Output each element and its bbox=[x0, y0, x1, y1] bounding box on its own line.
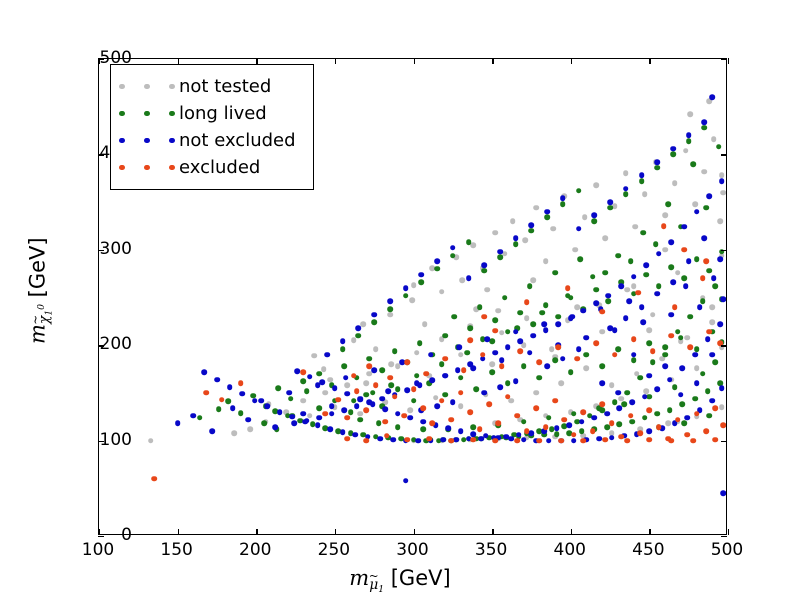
data-point bbox=[681, 247, 687, 253]
data-point bbox=[670, 152, 676, 158]
data-point bbox=[672, 304, 678, 310]
data-point bbox=[684, 335, 690, 341]
data-point bbox=[700, 276, 706, 282]
data-point bbox=[411, 282, 417, 288]
data-point bbox=[717, 257, 723, 263]
data-point bbox=[603, 270, 609, 276]
data-point bbox=[492, 328, 498, 334]
data-point bbox=[650, 312, 656, 318]
data-point bbox=[291, 421, 297, 427]
data-point bbox=[354, 388, 360, 394]
data-point bbox=[577, 257, 583, 263]
data-point bbox=[191, 413, 197, 419]
data-point bbox=[703, 205, 709, 211]
data-point bbox=[496, 308, 502, 314]
data-point bbox=[455, 367, 461, 373]
data-point bbox=[692, 396, 698, 402]
data-point bbox=[691, 438, 697, 444]
data-point bbox=[559, 381, 565, 387]
data-point bbox=[376, 421, 382, 427]
data-point bbox=[505, 329, 511, 335]
data-point bbox=[389, 382, 395, 388]
data-point bbox=[662, 344, 668, 350]
data-point bbox=[544, 209, 550, 215]
data-point bbox=[681, 224, 687, 230]
data-point bbox=[555, 321, 561, 327]
data-point bbox=[713, 360, 719, 366]
data-point bbox=[434, 258, 440, 264]
legend-item-long-lived[interactable]: long lived bbox=[119, 100, 303, 127]
x-tick-label: 500 bbox=[711, 540, 743, 560]
data-point bbox=[623, 192, 629, 198]
legend-item-not-excluded[interactable]: not excluded bbox=[119, 127, 303, 154]
data-point bbox=[340, 346, 346, 352]
data-point bbox=[414, 373, 420, 379]
data-point bbox=[702, 119, 708, 125]
data-point bbox=[713, 405, 719, 411]
data-point bbox=[527, 283, 533, 289]
data-point bbox=[390, 437, 396, 443]
data-point bbox=[709, 398, 715, 404]
data-point bbox=[719, 404, 725, 410]
data-point bbox=[555, 344, 561, 350]
data-point bbox=[345, 382, 351, 388]
data-point bbox=[551, 226, 557, 232]
data-point bbox=[408, 415, 414, 421]
data-point bbox=[686, 138, 692, 144]
data-point bbox=[593, 340, 599, 346]
data-point bbox=[315, 423, 321, 429]
data-point bbox=[702, 125, 708, 131]
legend-item-excluded[interactable]: excluded bbox=[119, 154, 303, 181]
data-point bbox=[417, 382, 423, 388]
data-point bbox=[524, 316, 530, 322]
data-point bbox=[426, 436, 432, 442]
data-point bbox=[209, 428, 215, 434]
data-point bbox=[445, 425, 451, 431]
data-point bbox=[579, 419, 585, 425]
x-axis-tick bbox=[492, 529, 493, 535]
data-point bbox=[579, 428, 585, 434]
data-point bbox=[559, 438, 565, 444]
data-point bbox=[450, 400, 456, 406]
data-point bbox=[544, 363, 550, 369]
data-point bbox=[483, 433, 489, 439]
data-point bbox=[678, 392, 684, 398]
data-point bbox=[371, 320, 377, 326]
data-point bbox=[247, 426, 253, 432]
data-point bbox=[617, 405, 623, 411]
data-point bbox=[481, 268, 487, 274]
data-point bbox=[675, 270, 681, 276]
data-point bbox=[629, 400, 635, 406]
data-point bbox=[609, 435, 615, 441]
data-point bbox=[571, 438, 577, 444]
data-point bbox=[275, 385, 281, 391]
data-point bbox=[719, 385, 725, 391]
data-point bbox=[636, 290, 642, 296]
x-axis-tick bbox=[335, 58, 336, 64]
data-point bbox=[667, 377, 673, 383]
data-point bbox=[508, 436, 514, 442]
data-point bbox=[409, 298, 415, 304]
data-point bbox=[582, 215, 588, 221]
data-point bbox=[422, 321, 428, 327]
data-point bbox=[214, 377, 220, 383]
data-point bbox=[706, 268, 712, 274]
data-point bbox=[623, 171, 629, 177]
data-point bbox=[364, 392, 370, 398]
data-point bbox=[246, 417, 252, 423]
data-point bbox=[499, 330, 505, 336]
data-point bbox=[459, 278, 465, 284]
data-point bbox=[225, 399, 231, 405]
data-point bbox=[417, 340, 423, 346]
data-point bbox=[546, 438, 552, 444]
data-point bbox=[705, 388, 711, 394]
data-point bbox=[650, 360, 656, 366]
data-point bbox=[353, 432, 359, 438]
data-point bbox=[403, 293, 409, 299]
data-point bbox=[639, 304, 645, 310]
data-point bbox=[439, 361, 445, 367]
x-axis-unit: [GeV] bbox=[391, 566, 451, 590]
data-point bbox=[499, 363, 505, 369]
data-point bbox=[592, 415, 598, 421]
data-point bbox=[706, 194, 712, 200]
data-point bbox=[477, 426, 483, 432]
x-axis-tick bbox=[649, 529, 650, 535]
data-point bbox=[513, 241, 519, 247]
data-point bbox=[661, 223, 667, 229]
data-point bbox=[637, 375, 643, 381]
data-point bbox=[647, 407, 653, 413]
data-point bbox=[592, 218, 598, 224]
data-point bbox=[319, 380, 325, 386]
data-point bbox=[615, 346, 621, 352]
data-point bbox=[560, 195, 566, 201]
data-point bbox=[560, 201, 566, 207]
data-point bbox=[599, 329, 605, 335]
data-point bbox=[555, 314, 561, 320]
data-point bbox=[568, 369, 574, 375]
data-point bbox=[599, 381, 605, 387]
data-point bbox=[716, 144, 722, 150]
data-point bbox=[533, 405, 539, 411]
data-point bbox=[474, 386, 480, 392]
data-point bbox=[430, 421, 436, 427]
data-point bbox=[607, 199, 613, 205]
data-point bbox=[239, 391, 245, 397]
data-point bbox=[670, 279, 676, 285]
data-point bbox=[448, 417, 454, 423]
data-point bbox=[467, 409, 473, 415]
data-point bbox=[518, 310, 524, 316]
data-point bbox=[227, 384, 233, 390]
data-point bbox=[694, 257, 700, 263]
data-point bbox=[709, 304, 715, 310]
data-point bbox=[203, 390, 209, 396]
data-point bbox=[537, 360, 543, 366]
data-point bbox=[623, 316, 629, 322]
data-point bbox=[596, 436, 602, 442]
data-point bbox=[272, 424, 278, 430]
data-point bbox=[356, 333, 362, 339]
figure: 1001502002503003504004505000100200300400… bbox=[0, 0, 800, 600]
data-point bbox=[639, 178, 645, 184]
data-point bbox=[524, 428, 530, 434]
data-point bbox=[521, 363, 527, 369]
data-point bbox=[518, 339, 524, 345]
data-point bbox=[626, 299, 632, 305]
data-point bbox=[702, 169, 708, 175]
data-point bbox=[584, 352, 590, 358]
data-point bbox=[686, 258, 692, 264]
data-point bbox=[592, 213, 598, 219]
data-point bbox=[351, 373, 357, 379]
data-point bbox=[481, 314, 487, 320]
data-point bbox=[450, 245, 456, 251]
data-point bbox=[264, 403, 270, 409]
data-point bbox=[571, 411, 577, 417]
data-point bbox=[631, 274, 637, 280]
data-point bbox=[175, 421, 181, 427]
data-point bbox=[529, 222, 535, 228]
data-point bbox=[323, 411, 329, 417]
data-point bbox=[364, 381, 370, 387]
data-point bbox=[329, 403, 335, 409]
data-point bbox=[411, 386, 417, 392]
data-point bbox=[370, 402, 376, 408]
data-point bbox=[640, 320, 646, 326]
data-point bbox=[713, 283, 719, 289]
data-point bbox=[637, 430, 643, 436]
data-point bbox=[238, 381, 244, 387]
data-point bbox=[565, 285, 571, 291]
data-point bbox=[286, 390, 292, 396]
data-point bbox=[720, 423, 726, 429]
x-axis-tick bbox=[728, 58, 729, 64]
data-point bbox=[720, 297, 726, 303]
data-point bbox=[706, 329, 712, 335]
data-point bbox=[581, 409, 587, 415]
data-point bbox=[607, 325, 613, 331]
y-axis-tick bbox=[721, 59, 727, 60]
data-point bbox=[357, 417, 363, 423]
data-point bbox=[628, 258, 634, 264]
data-point bbox=[606, 293, 612, 299]
data-point bbox=[670, 146, 676, 152]
data-point bbox=[502, 295, 508, 301]
data-point bbox=[481, 390, 487, 396]
data-point bbox=[667, 407, 673, 413]
data-point bbox=[678, 335, 684, 341]
data-point bbox=[552, 358, 558, 364]
data-point bbox=[452, 314, 458, 320]
data-point bbox=[530, 278, 536, 284]
data-point bbox=[703, 258, 709, 264]
data-point bbox=[379, 396, 385, 402]
data-point bbox=[618, 434, 624, 440]
data-point bbox=[656, 251, 662, 257]
data-point bbox=[669, 264, 675, 270]
data-point bbox=[364, 438, 370, 444]
data-point bbox=[304, 388, 310, 394]
data-point bbox=[403, 478, 409, 484]
data-point bbox=[492, 350, 498, 356]
data-point bbox=[711, 136, 717, 142]
data-point bbox=[458, 352, 464, 358]
data-point bbox=[669, 333, 675, 339]
data-point bbox=[654, 411, 660, 417]
x-tick-label: 350 bbox=[475, 540, 507, 560]
data-point bbox=[456, 344, 462, 350]
data-point bbox=[571, 432, 577, 438]
data-point bbox=[647, 428, 653, 434]
data-point bbox=[301, 411, 307, 417]
data-point bbox=[301, 369, 307, 375]
data-point bbox=[467, 361, 473, 367]
legend-marker-swatch bbox=[119, 165, 179, 171]
x-axis-tick bbox=[571, 529, 572, 535]
data-point bbox=[669, 438, 675, 444]
data-point bbox=[543, 258, 549, 264]
data-point bbox=[373, 346, 379, 352]
data-point bbox=[382, 419, 388, 425]
x-axis-tick bbox=[728, 529, 729, 535]
data-point bbox=[467, 338, 473, 344]
data-point bbox=[683, 148, 689, 154]
data-point bbox=[420, 419, 426, 425]
data-point bbox=[662, 363, 668, 369]
data-point bbox=[423, 371, 429, 377]
data-point bbox=[442, 392, 448, 398]
data-point bbox=[524, 299, 530, 305]
data-point bbox=[480, 352, 486, 358]
data-point bbox=[367, 356, 373, 362]
data-point bbox=[642, 394, 648, 400]
data-point bbox=[543, 302, 549, 308]
data-point bbox=[505, 344, 511, 350]
data-point bbox=[514, 413, 520, 419]
data-point bbox=[632, 224, 638, 230]
data-point bbox=[609, 421, 615, 427]
data-point bbox=[533, 390, 539, 396]
data-point bbox=[672, 384, 678, 390]
data-point bbox=[639, 173, 645, 179]
data-point bbox=[720, 490, 726, 496]
y-tick-label: 300 bbox=[90, 239, 132, 259]
data-point bbox=[615, 253, 621, 259]
data-point bbox=[609, 382, 615, 388]
data-point bbox=[348, 409, 354, 415]
data-point bbox=[703, 428, 709, 434]
data-point bbox=[514, 438, 520, 444]
data-point bbox=[497, 384, 503, 390]
data-point bbox=[481, 262, 487, 268]
legend-item-not-tested[interactable]: not tested bbox=[119, 73, 303, 100]
data-point bbox=[301, 398, 307, 404]
data-point bbox=[576, 346, 582, 352]
data-point bbox=[485, 337, 491, 343]
data-point bbox=[584, 335, 590, 341]
data-point bbox=[700, 299, 706, 305]
x-axis-tick bbox=[256, 529, 257, 535]
legend: not testedlong livednot excludedexcluded bbox=[110, 64, 314, 190]
data-point bbox=[709, 320, 715, 326]
data-point bbox=[216, 406, 222, 412]
data-point bbox=[612, 352, 618, 358]
data-point bbox=[434, 266, 440, 272]
data-point bbox=[654, 159, 660, 165]
data-point bbox=[332, 385, 338, 391]
data-point bbox=[662, 247, 668, 253]
data-point bbox=[543, 327, 549, 333]
data-point bbox=[387, 306, 393, 312]
x-axis-tick bbox=[335, 529, 336, 535]
data-point bbox=[258, 398, 264, 404]
data-point bbox=[323, 390, 329, 396]
data-point bbox=[357, 397, 363, 403]
data-point bbox=[370, 390, 376, 396]
data-point bbox=[492, 318, 498, 324]
data-point bbox=[617, 422, 623, 428]
data-point bbox=[466, 239, 472, 245]
x-axis-tick bbox=[492, 58, 493, 64]
data-point bbox=[654, 291, 660, 297]
data-point bbox=[441, 437, 447, 443]
data-point bbox=[675, 417, 681, 423]
data-point bbox=[581, 438, 587, 444]
data-point bbox=[631, 283, 637, 289]
data-point bbox=[603, 236, 609, 242]
data-point bbox=[537, 375, 543, 381]
legend-label: long lived bbox=[179, 103, 267, 124]
data-point bbox=[544, 215, 550, 221]
data-point bbox=[467, 325, 473, 331]
data-point bbox=[395, 424, 401, 430]
data-point bbox=[202, 369, 208, 375]
data-point bbox=[554, 431, 560, 437]
data-point bbox=[521, 437, 527, 443]
data-point bbox=[694, 411, 700, 417]
data-point bbox=[252, 398, 258, 404]
data-point bbox=[345, 391, 351, 397]
data-point bbox=[419, 272, 425, 278]
data-point bbox=[324, 352, 330, 358]
data-point bbox=[615, 390, 621, 396]
data-point bbox=[540, 310, 546, 316]
data-point bbox=[389, 361, 395, 367]
data-point bbox=[477, 304, 483, 310]
data-point bbox=[669, 239, 675, 245]
data-point bbox=[720, 190, 726, 196]
data-point bbox=[625, 438, 631, 444]
data-point bbox=[612, 400, 618, 406]
data-point bbox=[219, 397, 225, 403]
data-point bbox=[354, 403, 360, 409]
data-point bbox=[340, 429, 346, 435]
data-point bbox=[717, 218, 723, 224]
data-point bbox=[312, 353, 318, 359]
data-point bbox=[458, 375, 464, 381]
data-point bbox=[513, 236, 519, 242]
data-point bbox=[593, 300, 599, 306]
data-point bbox=[434, 403, 440, 409]
data-point bbox=[505, 381, 511, 387]
y-axis-tick bbox=[721, 250, 727, 251]
data-point bbox=[343, 375, 349, 381]
